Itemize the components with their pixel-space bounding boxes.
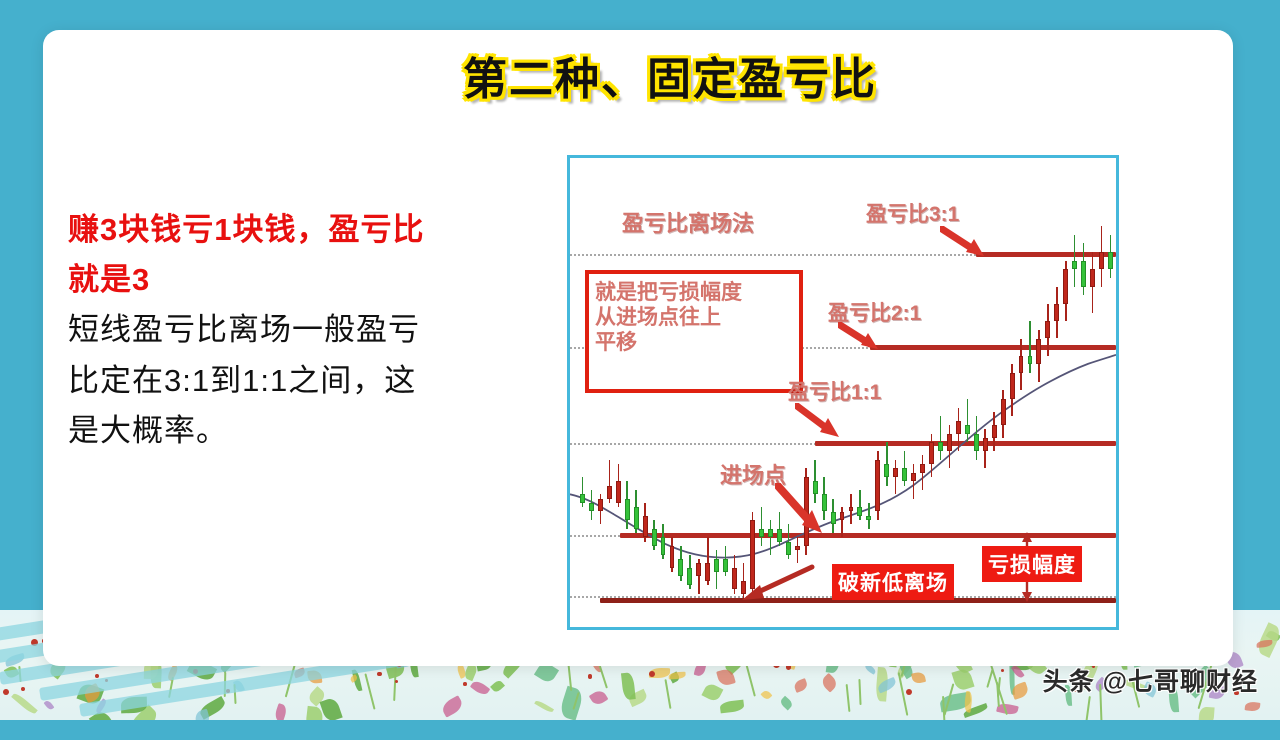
candle-body: [1054, 304, 1059, 321]
candle-body: [625, 499, 630, 521]
candle-body: [1081, 261, 1086, 287]
candlestick-chart: 盈亏比离场法 就是把亏损幅度 从进场点往上 平移 盈亏比3:1 盈亏比2:1 盈…: [567, 155, 1119, 630]
candle-wick: [797, 537, 799, 563]
candle-wick: [1029, 321, 1031, 373]
chart-method-title: 盈亏比离场法: [622, 206, 754, 238]
callout-line-1: 就是把亏损幅度: [595, 281, 793, 306]
candle-body: [687, 568, 692, 585]
arrow-ratio-1-1: [795, 403, 851, 443]
candle-body: [705, 563, 710, 580]
arrow-break-new-low: [730, 564, 816, 604]
page-title: 第二种、固定盈亏比: [390, 56, 950, 104]
candle-body: [965, 425, 970, 434]
candle-wick: [770, 520, 772, 555]
candle-body: [634, 507, 639, 529]
berry-dot: [649, 671, 655, 677]
berry-dot: [21, 687, 25, 691]
arrow-ratio-2-1: [838, 322, 890, 354]
candle-body: [938, 442, 943, 451]
candle-body: [714, 559, 719, 572]
candle-body: [759, 529, 764, 538]
petal-shape: [44, 699, 55, 710]
petal-shape: [589, 688, 609, 707]
candle-body: [652, 529, 657, 546]
candle-body: [992, 425, 997, 438]
body-line-1: 短线盈亏比离场一般盈亏: [68, 305, 543, 355]
plant-stem: [858, 679, 861, 705]
candle-body: [1108, 252, 1113, 269]
berry-dot: [463, 682, 467, 686]
candle-body: [1010, 373, 1015, 399]
highlight-line-2: 就是3: [68, 255, 543, 305]
petal-shape: [469, 678, 490, 697]
berry-dot: [588, 674, 593, 679]
candle-body: [929, 442, 934, 464]
candle-body: [902, 468, 907, 481]
petal-shape: [274, 703, 289, 720]
berry-dot: [3, 689, 9, 695]
leaf-shape: [534, 699, 554, 714]
candle-body: [956, 421, 961, 434]
arrow-ratio-3-1: [940, 226, 996, 262]
candle-body: [849, 507, 854, 511]
petal-shape: [761, 689, 773, 701]
candle-body: [616, 481, 621, 503]
petal-shape: [669, 672, 686, 680]
label-ratio-3-1: 盈亏比3:1: [866, 198, 959, 228]
candle-body: [1072, 261, 1077, 270]
petal-shape: [911, 671, 926, 684]
callout-line-2: 从进场点往上: [595, 306, 793, 331]
tag-break-new-low-exit: 破新低离场: [832, 564, 954, 600]
watermark: 头条 @七哥聊财经: [1043, 662, 1258, 698]
candle-body: [920, 464, 925, 473]
candle-body: [947, 434, 952, 451]
leaf-shape: [719, 700, 744, 713]
candle-body: [840, 512, 845, 521]
candle-body: [795, 546, 800, 550]
petal-shape: [820, 672, 840, 692]
candle-body: [1028, 356, 1033, 365]
leaf-shape: [11, 691, 37, 715]
candle-body: [857, 507, 862, 516]
candle-wick: [913, 464, 915, 499]
candle-body: [1019, 356, 1024, 373]
candle-body: [1099, 252, 1104, 269]
candle-body: [866, 516, 871, 520]
berry-dot: [906, 689, 912, 695]
left-text-block: 赚3块钱亏1块钱，盈亏比 就是3 短线盈亏比离场一般盈亏 比定在3:1到1:1之…: [68, 205, 543, 456]
candle-body: [768, 529, 773, 538]
candle-body: [974, 434, 979, 451]
candle-body: [678, 559, 683, 576]
candle-body: [696, 563, 701, 576]
body-line-2: 比定在3:1到1:1之间，这: [68, 356, 543, 406]
body-line-3: 是大概率。: [68, 406, 543, 456]
leaf-shape: [1198, 707, 1214, 720]
candle-body: [884, 464, 889, 477]
callout-box: 就是把亏损幅度 从进场点往上 平移: [585, 270, 803, 393]
candle-body: [580, 494, 585, 503]
highlight-line-1: 赚3块钱亏1块钱，盈亏比: [68, 205, 543, 255]
candle-body: [983, 438, 988, 451]
plant-stem: [1085, 696, 1091, 720]
petal-shape: [439, 695, 464, 718]
berry-dot: [377, 672, 382, 677]
berry-dot: [395, 680, 398, 683]
candle-wick: [895, 460, 897, 495]
candle-wick: [940, 416, 942, 459]
leaf-shape: [621, 672, 636, 700]
label-ratio-1-1: 盈亏比1:1: [788, 376, 881, 406]
berry-dot: [95, 674, 99, 678]
petal-shape: [793, 678, 809, 693]
plant-stem: [364, 674, 375, 710]
plant-stem: [846, 684, 851, 712]
candle-body: [893, 468, 898, 477]
candle-body: [598, 499, 603, 512]
candle-body: [911, 473, 916, 482]
candle-body: [589, 503, 594, 512]
chart-plot-area: 盈亏比离场法 就是把亏损幅度 从进场点往上 平移 盈亏比3:1 盈亏比2:1 盈…: [570, 158, 1116, 627]
berry-dot: [1001, 669, 1004, 672]
leaf-shape: [779, 695, 794, 710]
plant-stem: [987, 668, 995, 688]
candle-body: [1045, 321, 1050, 338]
plant-stem: [664, 679, 671, 709]
candle-wick: [967, 399, 969, 442]
candle-body: [661, 537, 666, 554]
candle-body: [1001, 399, 1006, 425]
candle-body: [643, 516, 648, 538]
petal-shape: [1245, 701, 1261, 712]
candle-body: [875, 460, 880, 512]
candle-body: [670, 546, 675, 568]
candle-wick: [761, 507, 763, 546]
candle-body: [723, 559, 728, 572]
candle-body: [786, 542, 791, 555]
candle-body: [607, 486, 612, 499]
leaf-shape: [489, 678, 504, 693]
candle-wick: [922, 455, 924, 490]
tag-loss-amplitude: 亏损幅度: [982, 546, 1082, 582]
candle-body: [1036, 339, 1041, 365]
candle-body: [1090, 269, 1095, 286]
callout-line-3: 平移: [595, 331, 793, 356]
arrow-entry-point: [775, 483, 835, 539]
candle-body: [1063, 269, 1068, 304]
leaf-shape: [702, 682, 724, 703]
